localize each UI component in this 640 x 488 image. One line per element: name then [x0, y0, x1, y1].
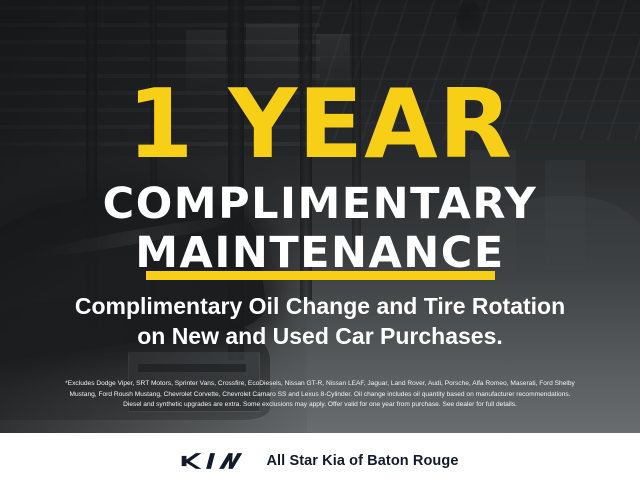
- subheadline: Complimentary Oil Change and Tire Rotati…: [24, 291, 616, 351]
- yellow-divider-rule: [146, 271, 495, 280]
- disclaimer-line-3: Diesel and synthetic upgrades are extra.…: [16, 400, 624, 411]
- headline-primary: 1 YEAR: [0, 78, 640, 173]
- hero-section: 1 YEAR COMPLIMENTARY MAINTENANCE Complim…: [0, 0, 640, 433]
- kia-logo: [181, 451, 249, 471]
- dealer-name: All Star Kia of Baton Rouge: [266, 453, 458, 469]
- disclaimer-line-1: *Excludes Dodge Viper, SRT Motors, Sprin…: [16, 379, 624, 390]
- disclaimer-line-2: Mustang, Ford Roush Mustang, Chevrolet C…: [16, 390, 624, 401]
- headline-secondary-line-1: COMPLIMENTARY: [0, 180, 640, 229]
- headline-secondary: COMPLIMENTARY MAINTENANCE: [0, 180, 640, 278]
- subheadline-line-1: Complimentary Oil Change and Tire Rotati…: [24, 291, 616, 321]
- hero-content: 1 YEAR COMPLIMENTARY MAINTENANCE Complim…: [0, 0, 640, 433]
- footer-bar: All Star Kia of Baton Rouge: [0, 433, 640, 488]
- promo-banner: 1 YEAR COMPLIMENTARY MAINTENANCE Complim…: [0, 0, 640, 488]
- disclaimer-text: *Excludes Dodge Viper, SRT Motors, Sprin…: [16, 379, 624, 411]
- subheadline-line-2: on New and Used Car Purchases.: [24, 321, 616, 351]
